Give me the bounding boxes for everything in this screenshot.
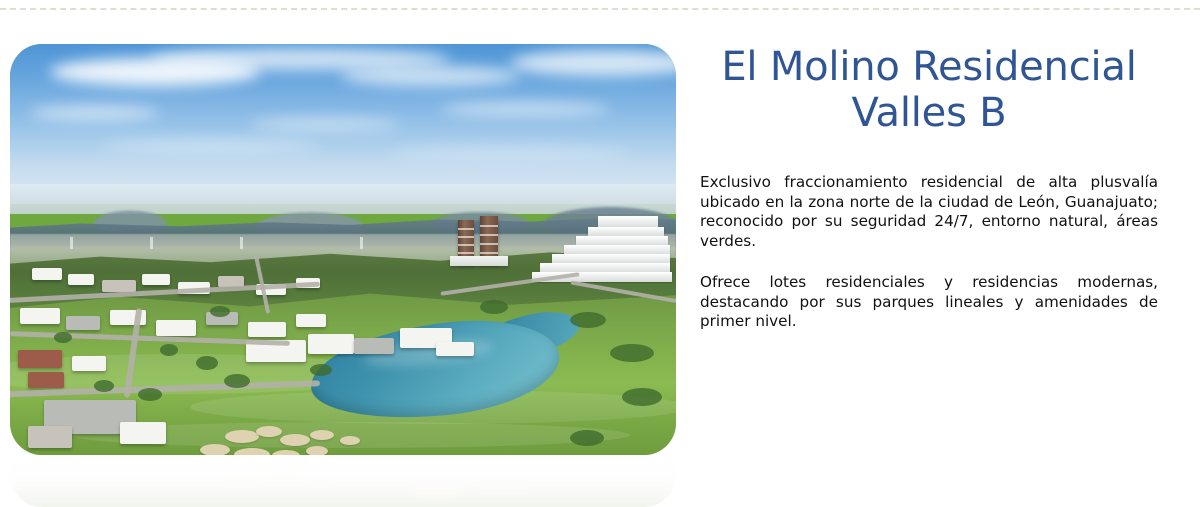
residence — [156, 320, 196, 336]
residence-red-roof — [18, 350, 62, 368]
reflection-bunker — [306, 478, 336, 488]
city-speck — [240, 237, 243, 249]
sand-bunker — [225, 430, 259, 443]
cloud-icon — [340, 66, 520, 86]
residence — [354, 338, 394, 354]
sand-bunker — [340, 436, 360, 445]
residence — [20, 308, 60, 324]
residence — [142, 274, 170, 285]
city-speck — [70, 237, 73, 249]
tree — [610, 344, 654, 362]
reflection-bunker — [266, 472, 300, 482]
tree — [224, 374, 250, 388]
tree — [570, 430, 604, 446]
tree — [210, 306, 230, 317]
cloud-icon — [510, 50, 676, 76]
reflection-bunker — [410, 484, 466, 498]
tree — [138, 388, 162, 401]
tree — [160, 344, 178, 356]
hero-image-container — [10, 44, 676, 455]
residence — [68, 274, 94, 285]
reflection-gradient — [10, 462, 676, 507]
aerial-photo — [10, 44, 676, 455]
sand-bunker — [272, 450, 300, 455]
page-title: El Molino Residencial Valles B — [700, 44, 1158, 136]
residence-red-roof — [28, 372, 64, 388]
tree — [54, 332, 72, 343]
reflection-bunker — [222, 476, 262, 488]
city-speck — [360, 237, 363, 249]
cloud-icon — [30, 106, 160, 120]
sand-bunker — [256, 426, 282, 437]
reflection-bunker — [480, 480, 528, 492]
residence — [72, 356, 106, 371]
sand-bunker — [234, 448, 270, 455]
image-reflection — [10, 462, 676, 507]
residence — [66, 316, 100, 330]
tree — [310, 364, 332, 376]
city-speck — [150, 237, 153, 249]
cloud-icon — [440, 102, 610, 116]
residence — [436, 342, 474, 356]
page-root: El Molino Residencial Valles B Exclusivo… — [0, 0, 1200, 507]
residence — [102, 280, 136, 292]
residence — [296, 314, 326, 327]
content-column: El Molino Residencial Valles B Exclusivo… — [700, 44, 1158, 332]
cloud-icon — [250, 118, 400, 130]
sand-bunker — [306, 446, 328, 455]
cloud-icon — [100, 140, 320, 151]
sky-layer — [10, 44, 676, 204]
villa-wing — [120, 422, 166, 444]
sand-bunker — [310, 430, 334, 440]
tree — [94, 380, 114, 392]
description-paragraph-1: Exclusivo fraccionamiento residencial de… — [700, 173, 1158, 251]
description-paragraph-2: Ofrece lotes residenciales y residencias… — [700, 273, 1158, 332]
sand-bunker — [200, 444, 230, 455]
tower-podium — [450, 256, 508, 266]
residence — [248, 322, 286, 337]
cloud-icon — [390, 148, 630, 158]
tree — [480, 300, 508, 314]
tree — [196, 356, 218, 370]
tree — [570, 312, 606, 328]
residence-large — [308, 334, 354, 354]
residence — [32, 268, 62, 280]
villa-wing — [28, 426, 72, 448]
tree — [622, 388, 662, 406]
sand-bunker — [280, 434, 310, 446]
